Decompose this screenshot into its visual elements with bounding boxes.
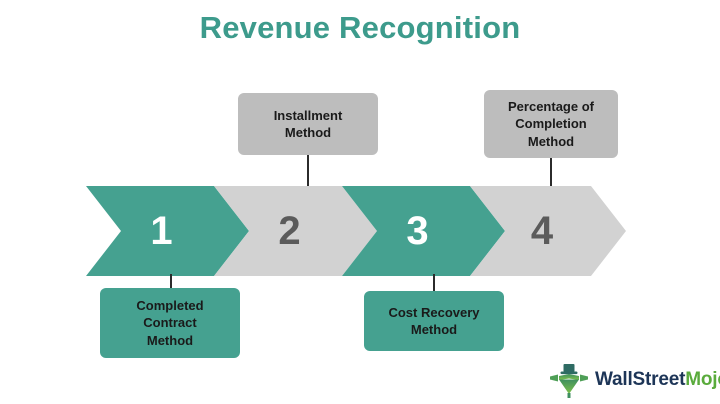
callout-percentage-of-completion-method-label: Percentage of Completion Method bbox=[508, 98, 594, 149]
connector-line-step-2 bbox=[307, 155, 309, 188]
logo-text-mojo: Mojo bbox=[685, 369, 720, 390]
callout-completed-contract-method-label: Completed Contract Method bbox=[136, 297, 203, 348]
callout-percentage-of-completion-method: Percentage of Completion Method bbox=[484, 90, 618, 158]
chevron-step-2-number: 2 bbox=[278, 211, 300, 251]
callout-cost-recovery-method: Cost Recovery Method bbox=[364, 291, 504, 351]
wallstreetmojo-logo-text: WallStreetMojo bbox=[595, 369, 720, 391]
chevron-step-3-number: 3 bbox=[406, 211, 428, 251]
chevron-step-1-number: 1 bbox=[150, 211, 172, 251]
wallstreetmojo-bull-tophat-icon bbox=[548, 361, 590, 399]
callout-installment-method-label: Installment Method bbox=[274, 107, 343, 141]
callout-completed-contract-method: Completed Contract Method bbox=[100, 288, 240, 358]
wallstreetmojo-logo: WallStreetMojo bbox=[548, 360, 714, 400]
callout-cost-recovery-method-label: Cost Recovery Method bbox=[388, 304, 479, 338]
connector-line-step-4 bbox=[550, 158, 552, 188]
chevron-step-4-number: 4 bbox=[531, 211, 553, 251]
logo-text-wallstreet: WallStreet bbox=[595, 369, 685, 390]
page-title: Revenue Recognition bbox=[0, 10, 720, 46]
callout-installment-method: Installment Method bbox=[238, 93, 378, 155]
revenue-recognition-infographic: Revenue Recognition Installment Method P… bbox=[0, 0, 720, 403]
process-chevron-band: 1 2 3 4 bbox=[86, 186, 626, 276]
